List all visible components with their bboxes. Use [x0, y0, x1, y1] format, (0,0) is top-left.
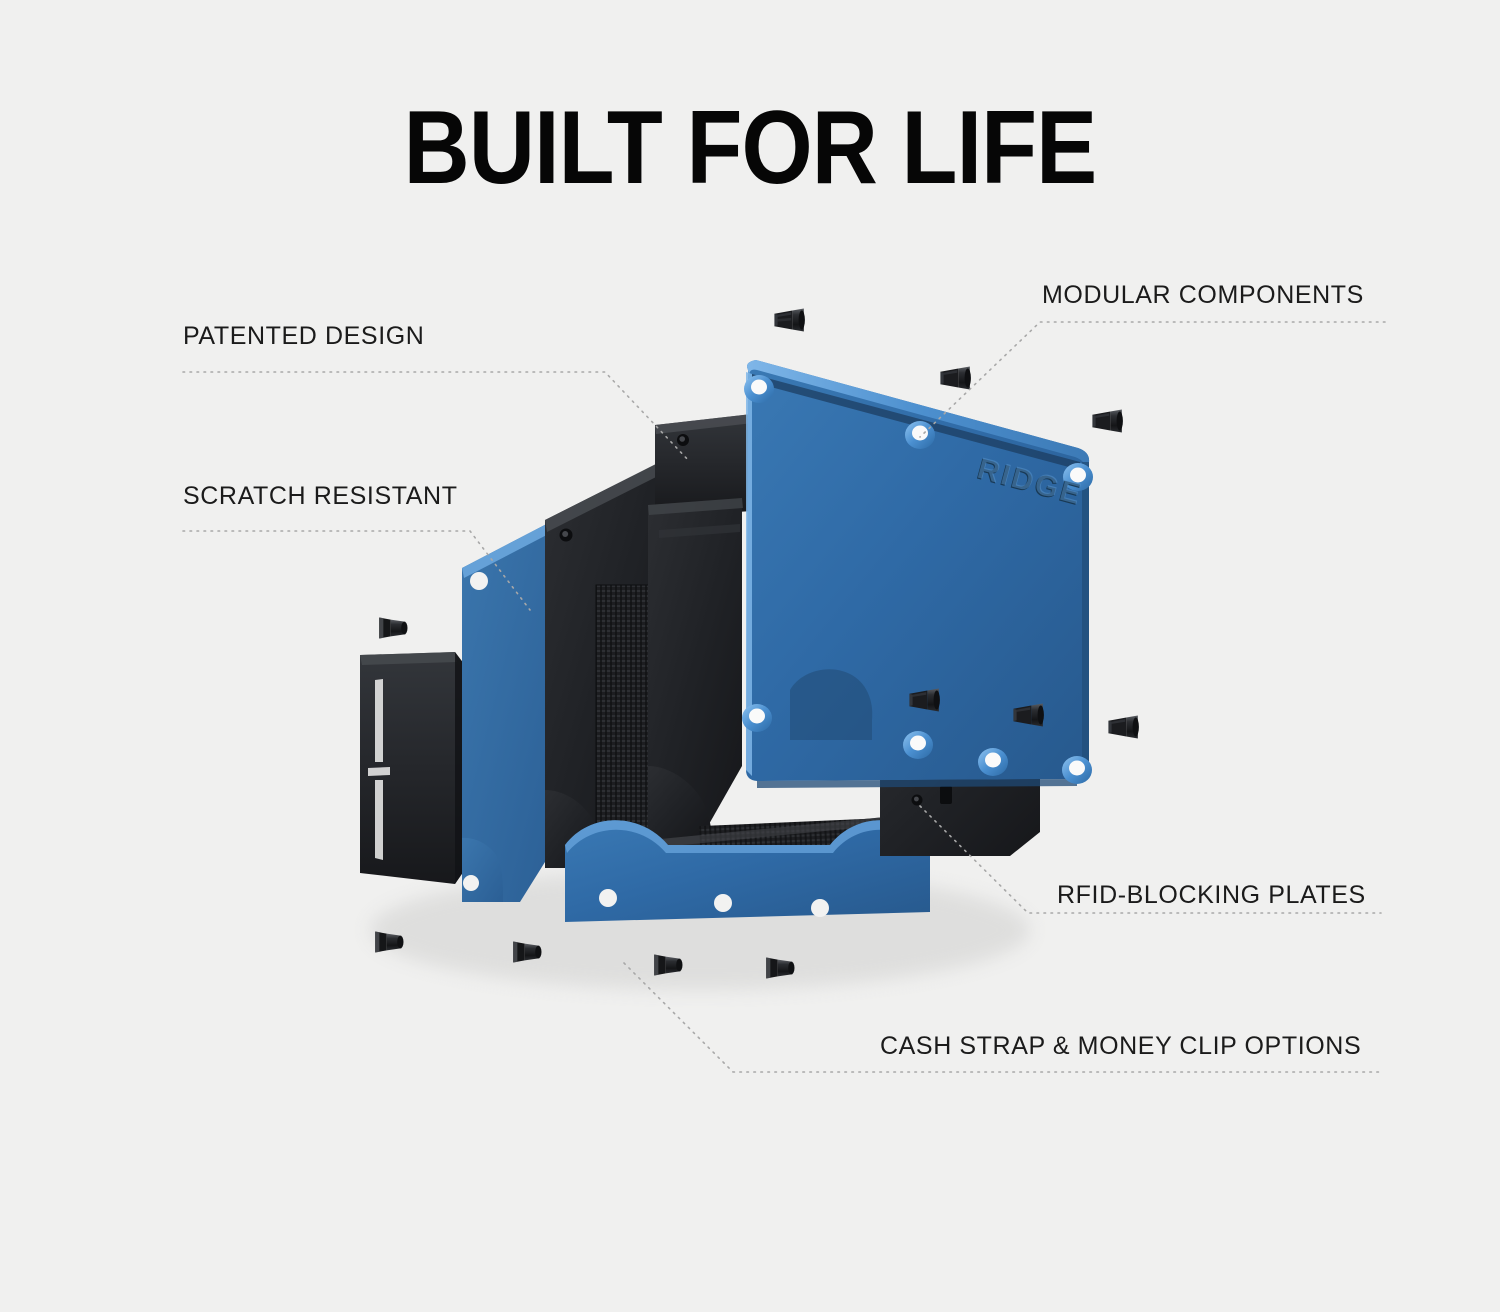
screw: [1092, 409, 1122, 432]
infographic-canvas: BUILT FOR LIFE: [0, 0, 1500, 1312]
screw: [774, 308, 804, 331]
callout-cash-strap-money-clip: CASH STRAP & MONEY CLIP OPTIONS: [880, 1032, 1361, 1061]
callout-scratch-resistant: SCRATCH RESISTANT: [183, 482, 458, 511]
callout-patented-design: PATENTED DESIGN: [183, 322, 424, 351]
callout-rfid-blocking-plates: RFID-BLOCKING PLATES: [1057, 881, 1366, 910]
screw: [1108, 715, 1138, 738]
screw: [940, 366, 970, 389]
product-exploded-view: RIDGE RIDGE: [0, 0, 1500, 1312]
callout-modular-components: MODULAR COMPONENTS: [1042, 281, 1364, 310]
component-money-clip: [360, 652, 470, 884]
screw: [379, 618, 407, 639]
